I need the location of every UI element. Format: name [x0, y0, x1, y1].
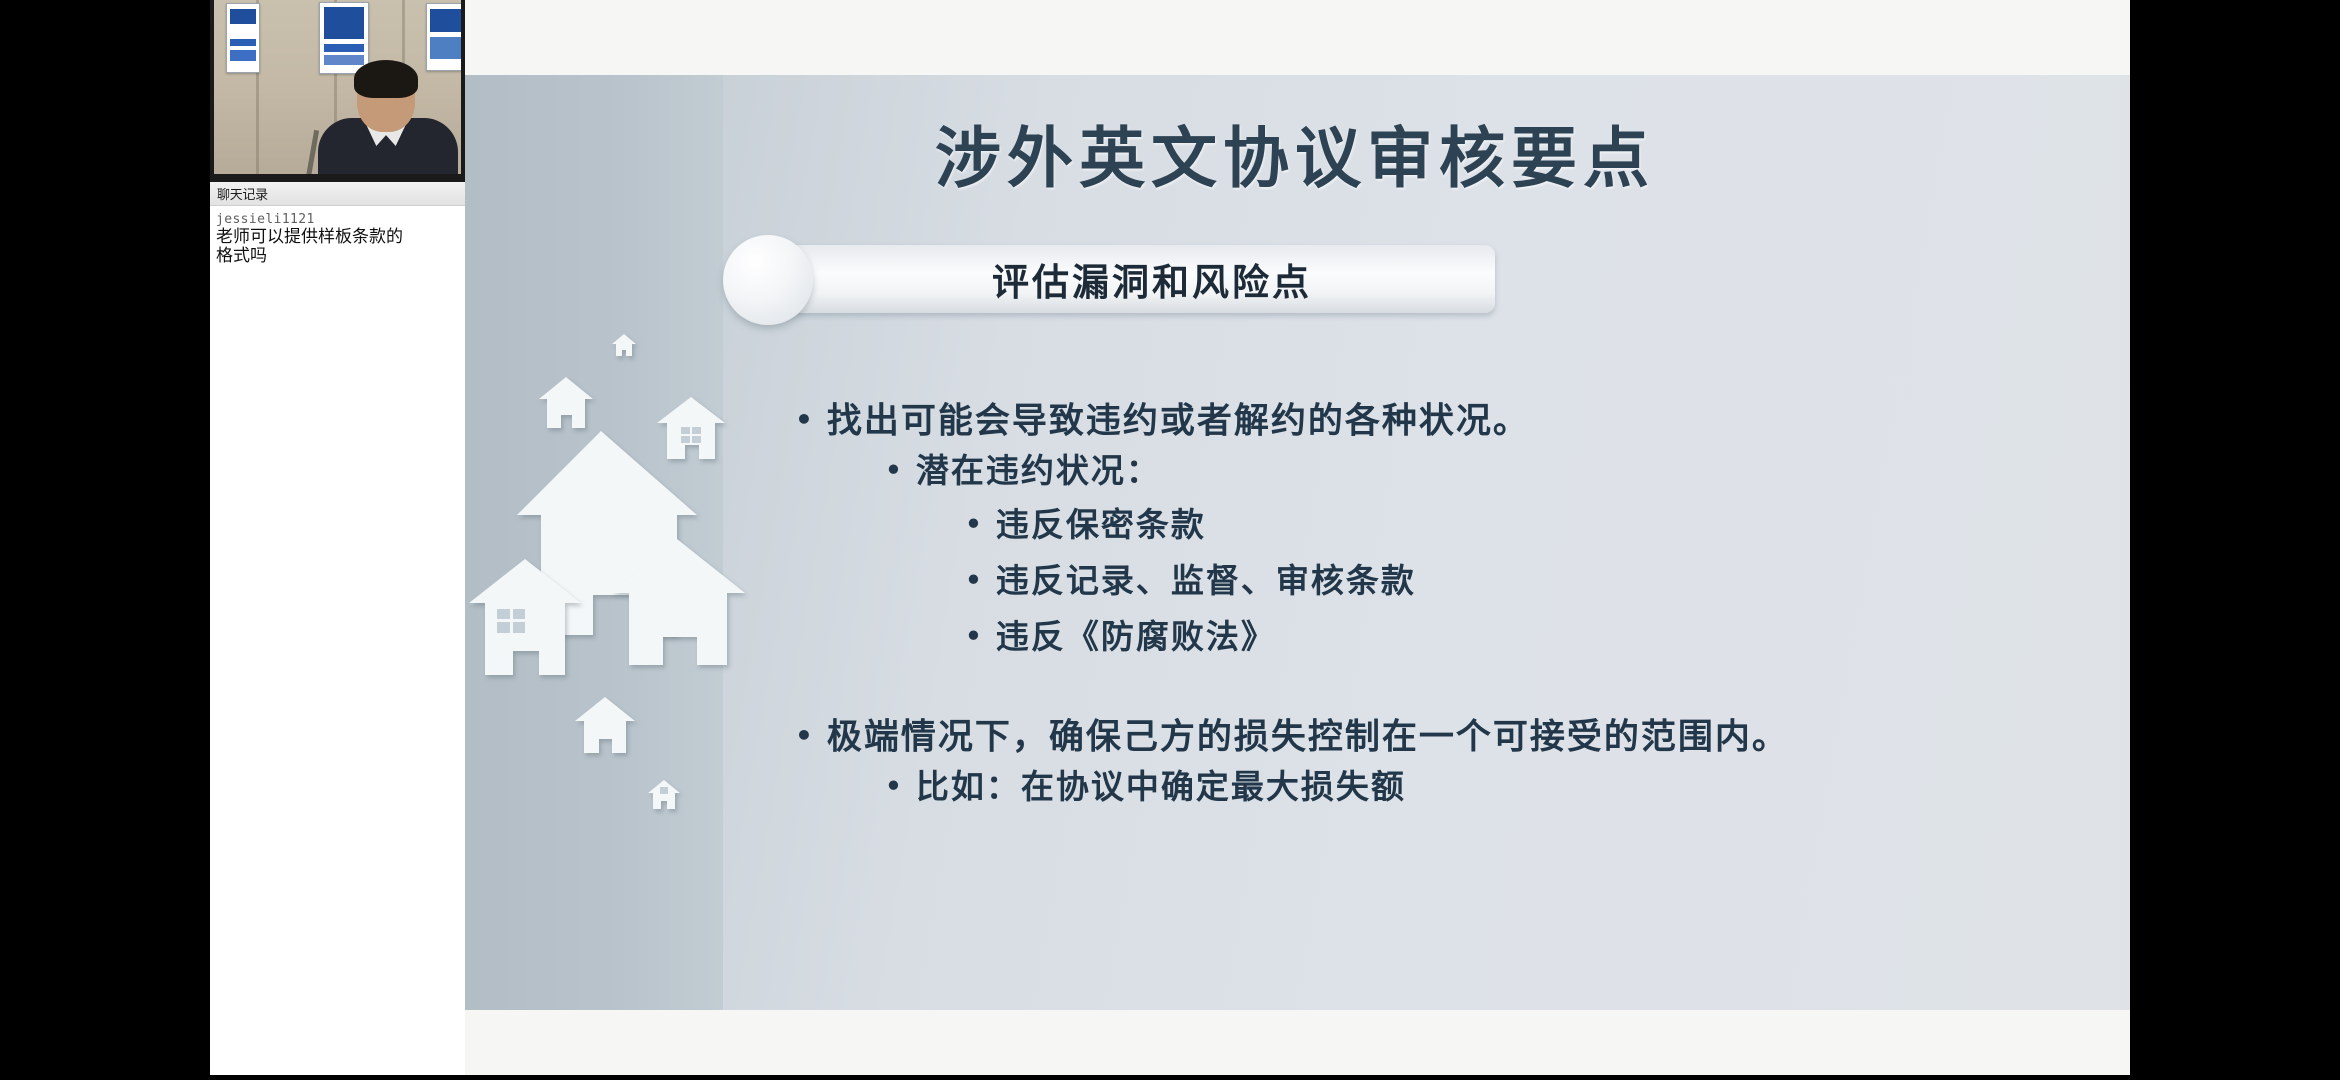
stage-bottom-strip [465, 1010, 2130, 1075]
chat-message-sender: jessieli1121 [216, 212, 459, 227]
chat-panel-header: 聊天记录 [210, 182, 465, 206]
bullet-item: •找出可能会导致违约或者解约的各种状况。 [795, 395, 2115, 446]
bullet-marker: • [795, 403, 815, 436]
bullet-text: 违反保密条款 [996, 505, 1206, 544]
bullet-marker: • [965, 621, 984, 652]
house-icon [647, 779, 681, 811]
bullet-item: •潜在违约状况： [885, 446, 2115, 496]
chat-header-title: 聊天记录 [217, 184, 268, 203]
slide-stage: 涉外英文协议审核要点 评估漏洞和风险点 •找出可能会导致违约或者解约的各种状况。… [465, 0, 2130, 1080]
bullet-marker: • [965, 565, 984, 596]
bullet-text: 潜在违约状况： [916, 452, 1161, 491]
bullet-item: •违反保密条款 [965, 497, 2115, 553]
bullet-text: 找出可能会导致违约或者解约的各种状况。 [827, 401, 1530, 441]
letterbox-right [2130, 0, 2340, 1080]
wall-poster [426, 3, 461, 71]
slide-bullet-list: •找出可能会导致违约或者解约的各种状况。 •潜在违约状况： •违反保密条款 •违… [795, 395, 2115, 813]
letterbox-bottom [0, 1075, 2340, 1080]
bullet-marker: • [965, 509, 984, 540]
bullet-text: 极端情况下，确保己方的损失控制在一个可接受的范围内。 [827, 717, 1789, 757]
bullet-item: •极端情况下，确保己方的损失控制在一个可接受的范围内。 [795, 711, 2115, 762]
screen: 聊天记录 jessieli1121 老师可以提供样板条款的格式吗 [0, 0, 2340, 1080]
letterbox-left [0, 0, 210, 1080]
wall-poster [319, 2, 369, 74]
bullet-text: 违反记录、监督、审核条款 [996, 561, 1416, 600]
house-icon [573, 695, 637, 757]
presentation-slide[interactable]: 涉外英文协议审核要点 评估漏洞和风险点 •找出可能会导致违约或者解约的各种状况。… [465, 75, 2130, 1010]
house-icon [605, 535, 750, 675]
wall-poster [226, 3, 260, 73]
video-frame [214, 0, 461, 174]
presenter-video-thumbnail[interactable] [210, 0, 465, 182]
presenter-hair [354, 60, 418, 98]
bullet-marker: • [885, 455, 904, 486]
bullet-marker: • [885, 771, 904, 802]
bullet-text: 比如：在协议中确定最大损失额 [916, 768, 1406, 807]
house-icon [611, 333, 637, 357]
slide-subtitle-banner: 评估漏洞和风险点 [765, 245, 1495, 313]
bullet-spacer [795, 665, 2115, 711]
bullet-text: 违反《防腐败法》 [996, 617, 1276, 656]
chat-message-list[interactable]: jessieli1121 老师可以提供样板条款的格式吗 [210, 206, 465, 266]
slide-subtitle-text: 评估漏洞和风险点 [765, 245, 1495, 313]
house-icon [537, 375, 595, 431]
bullet-item: •比如：在协议中确定最大损失额 [885, 762, 2115, 812]
bullet-item: •违反记录、监督、审核条款 [965, 553, 2115, 609]
chat-message-text: 老师可以提供样板条款的格式吗 [216, 228, 416, 266]
left-column: 聊天记录 jessieli1121 老师可以提供样板条款的格式吗 [210, 0, 465, 1080]
chat-panel: 聊天记录 jessieli1121 老师可以提供样板条款的格式吗 [210, 182, 466, 1080]
house-icon [465, 555, 585, 685]
slide-title: 涉外英文协议审核要点 [535, 105, 2055, 201]
bullet-item: •违反《防腐败法》 [965, 609, 2115, 665]
bullet-marker: • [795, 719, 815, 752]
chat-message-item: jessieli1121 老师可以提供样板条款的格式吗 [216, 212, 459, 266]
